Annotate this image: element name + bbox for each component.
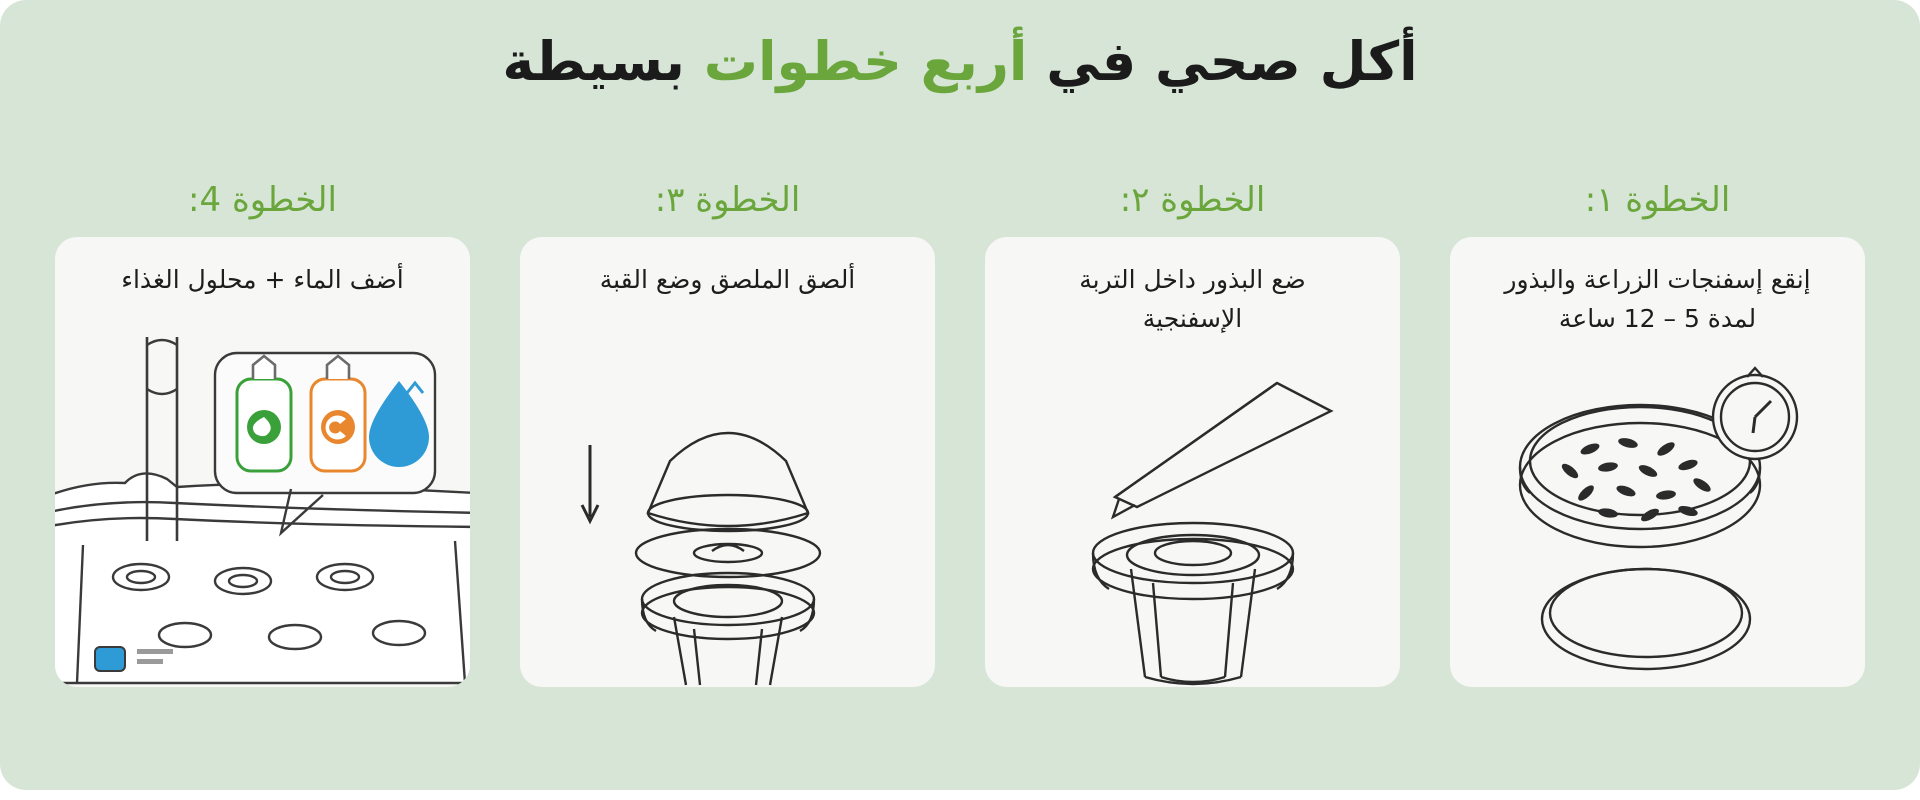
step-3-card: ألصق الملصق وضع القبة: [520, 237, 935, 687]
title-part-1: أكل صحي في: [1027, 30, 1417, 93]
tweezers-and-pod-icon: [985, 357, 1400, 687]
steps-container: الخطوة ١: إنقع إسفنجات الزراعة والبذور ل…: [40, 175, 1880, 755]
step-4-card: أضف الماء + محلول الغذاء: [55, 237, 470, 687]
step-1: الخطوة ١: إنقع إسفنجات الزراعة والبذور ل…: [1435, 175, 1880, 755]
step-2-text: ضع البذور داخل التربة الإسفنجية: [985, 261, 1400, 339]
step-4: الخطوة 4: أضف الماء + محلول الغذاء: [40, 175, 485, 755]
step-3-text: ألصق الملصق وضع القبة: [520, 261, 935, 300]
title-part-3: بسيطة: [502, 30, 703, 93]
page-title: أكل صحي في أربع خطوات بسيطة: [0, 30, 1920, 93]
step-4-text: أضف الماء + محلول الغذاء: [55, 261, 470, 300]
step-3-label: الخطوة ٣:: [655, 175, 801, 231]
dome-and-pod-icon: [520, 357, 935, 687]
title-highlight: أربع خطوات: [704, 30, 1028, 93]
step-1-label: الخطوة ١:: [1585, 175, 1731, 231]
step-1-text: إنقع إسفنجات الزراعة والبذور لمدة 5 – 12…: [1450, 261, 1865, 339]
seed-tray-and-timer-icon: [1450, 357, 1865, 687]
step-4-label: الخطوة 4:: [188, 175, 337, 231]
step-2-card: ضع البذور داخل التربة الإسفنجية: [985, 237, 1400, 687]
water-and-nutrient-bottles-icon: [55, 327, 470, 687]
step-2: الخطوة ٢: ضع البذور داخل التربة الإسفنجي…: [970, 175, 1415, 755]
step-1-card: إنقع إسفنجات الزراعة والبذور لمدة 5 – 12…: [1450, 237, 1865, 687]
step-3: الخطوة ٣: ألصق الملصق وضع القبة: [505, 175, 950, 755]
step-2-label: الخطوة ٢:: [1120, 175, 1266, 231]
infographic-banner: أكل صحي في أربع خطوات بسيطة الخطوة ١: إن…: [0, 0, 1920, 790]
